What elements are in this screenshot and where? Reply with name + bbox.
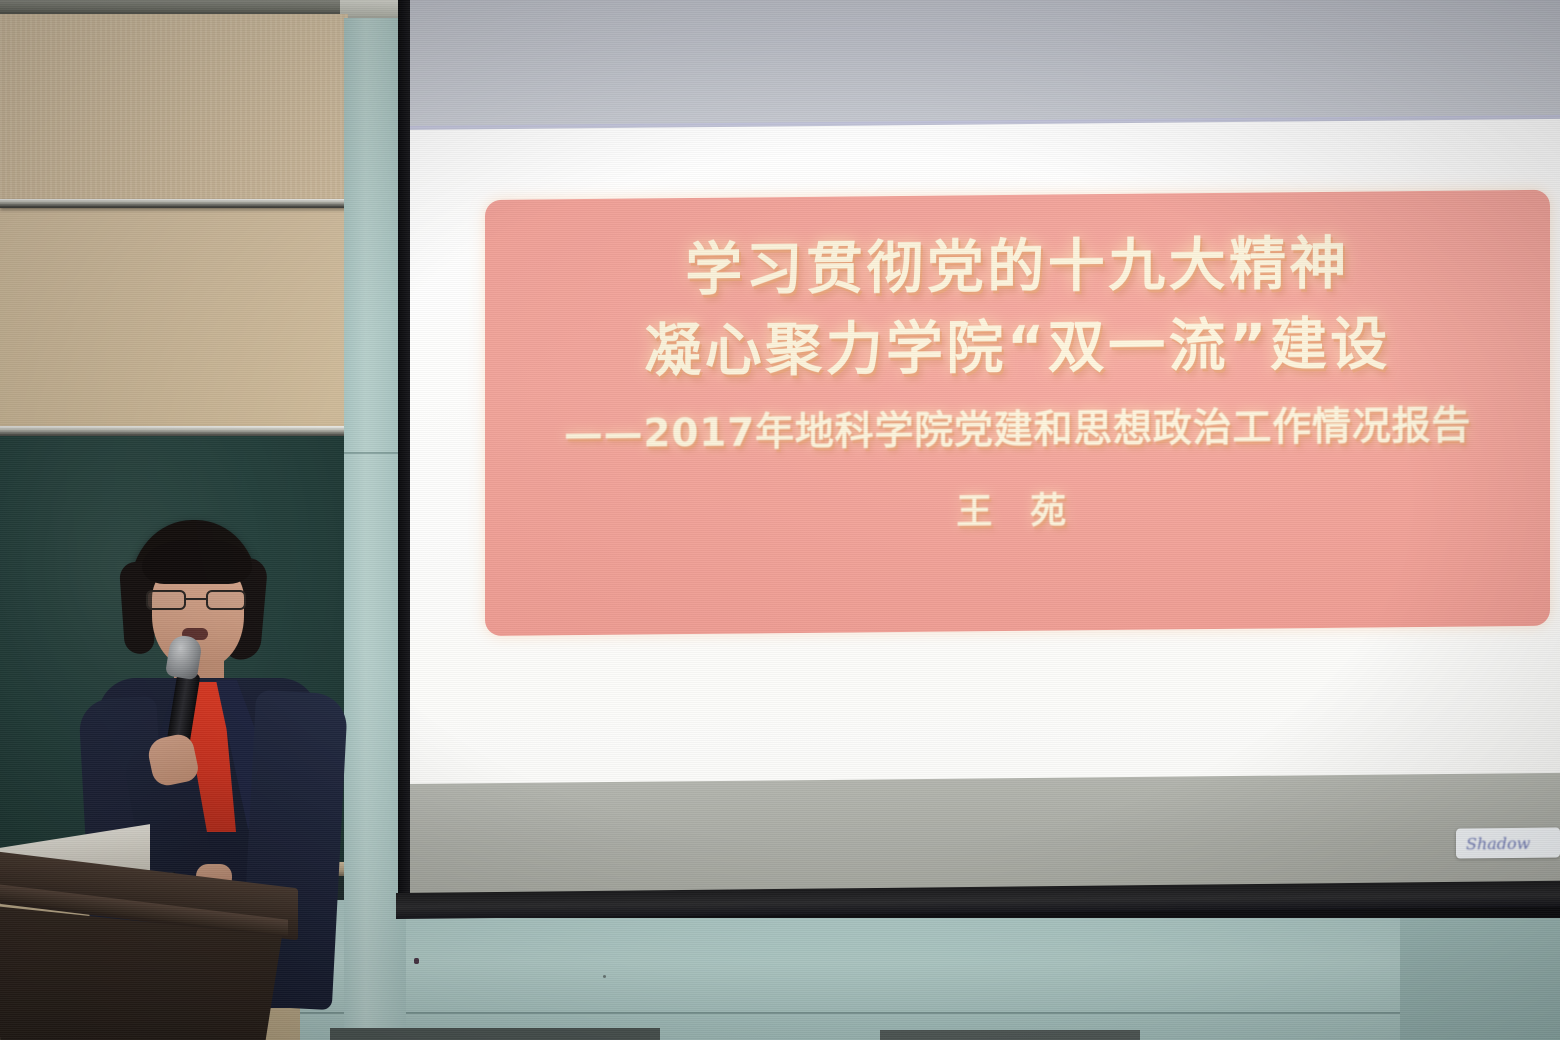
glasses-lens-left — [146, 590, 186, 610]
shadow-watermark-label: Shadow — [1466, 833, 1530, 853]
teal-strip-seam — [344, 452, 406, 454]
wall-mark — [414, 958, 419, 964]
teal-wall-strip — [344, 18, 406, 1040]
speaker-figure — [70, 510, 340, 1040]
speaker-fringe — [142, 540, 252, 584]
speaker-glasses — [144, 590, 252, 612]
slide-title-line-2: 凝心聚力学院“双一流”建设 — [644, 316, 1390, 380]
slide-title-line-1: 学习贯彻党的十九大精神 — [685, 236, 1350, 299]
teal-wall-seam — [300, 1012, 1560, 1014]
teal-wall-lower — [300, 900, 1560, 1040]
projection-screen-left-edge — [398, 0, 410, 918]
foreground-object-right — [880, 1030, 1140, 1040]
slide-subtitle: ——2017年地科学院党建和思想政治工作情况报告 — [564, 407, 1471, 455]
glasses-bridge — [186, 598, 206, 600]
slide-presenter-name: 王 苑 — [956, 493, 1078, 530]
foreground-object-left — [330, 1028, 660, 1040]
glasses-lens-right — [206, 590, 246, 610]
shadow-watermark-box: Shadow — [1456, 827, 1560, 858]
wall-panel-lower — [0, 208, 348, 428]
teal-wall-right — [1400, 905, 1560, 1040]
wall-rail-upper — [0, 199, 348, 208]
slide-title-card: 学习贯彻党的十九大精神 凝心聚力学院“双一流”建设 ——2017年地科学院党建和… — [485, 190, 1550, 636]
wall-mark-small — [603, 975, 606, 978]
photo-scene: 学习贯彻党的十九大精神 凝心聚力学院“双一流”建设 ——2017年地科学院党建和… — [0, 0, 1560, 1040]
